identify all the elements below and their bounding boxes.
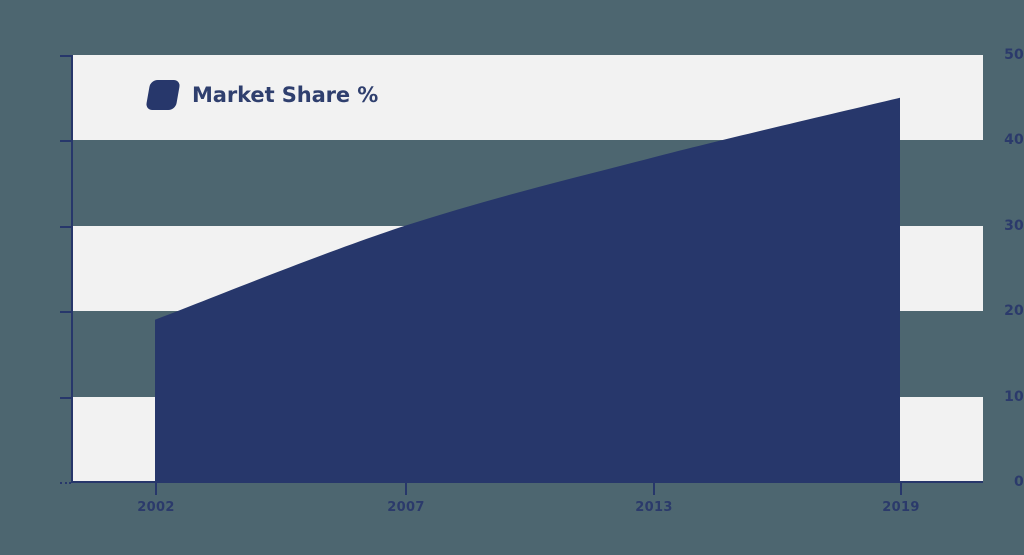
x-tick-2013 [653,483,655,495]
y-tick-10 [60,397,71,399]
x-axis-label-2013: 2013 [614,500,694,515]
y-axis-line [71,55,73,483]
x-tick-2007 [405,483,407,495]
x-axis-line [72,481,983,483]
x-tick-2002 [155,483,157,495]
y-tick-40 [60,140,71,142]
y-axis-label-30: 30 [972,218,1024,234]
y-axis-label-10: 10 [972,389,1024,405]
x-axis-label-2002: 2002 [116,500,196,515]
y-tick-30 [60,226,71,228]
y-tick-0 [60,482,71,484]
legend-item-label: Market Share % [192,83,378,107]
area-chart: 50 40 30 20 10 0 2002 2007 2013 2019 Mar… [0,0,1024,555]
y-tick-20 [60,311,71,313]
x-axis-label-2019: 2019 [861,500,941,515]
y-axis-label-50: 50 [972,47,1024,63]
x-tick-2019 [900,483,902,495]
y-axis-label-20: 20 [972,303,1024,319]
x-axis-label-2007: 2007 [366,500,446,515]
y-tick-50 [60,55,71,57]
area-series-path [155,98,900,482]
y-axis-label-0: 0 [972,474,1024,490]
series-market-share [72,55,983,482]
chart-legend[interactable]: Market Share % [148,80,378,110]
legend-swatch-icon [145,80,180,110]
plot-area [72,55,983,482]
y-axis-label-40: 40 [972,132,1024,148]
